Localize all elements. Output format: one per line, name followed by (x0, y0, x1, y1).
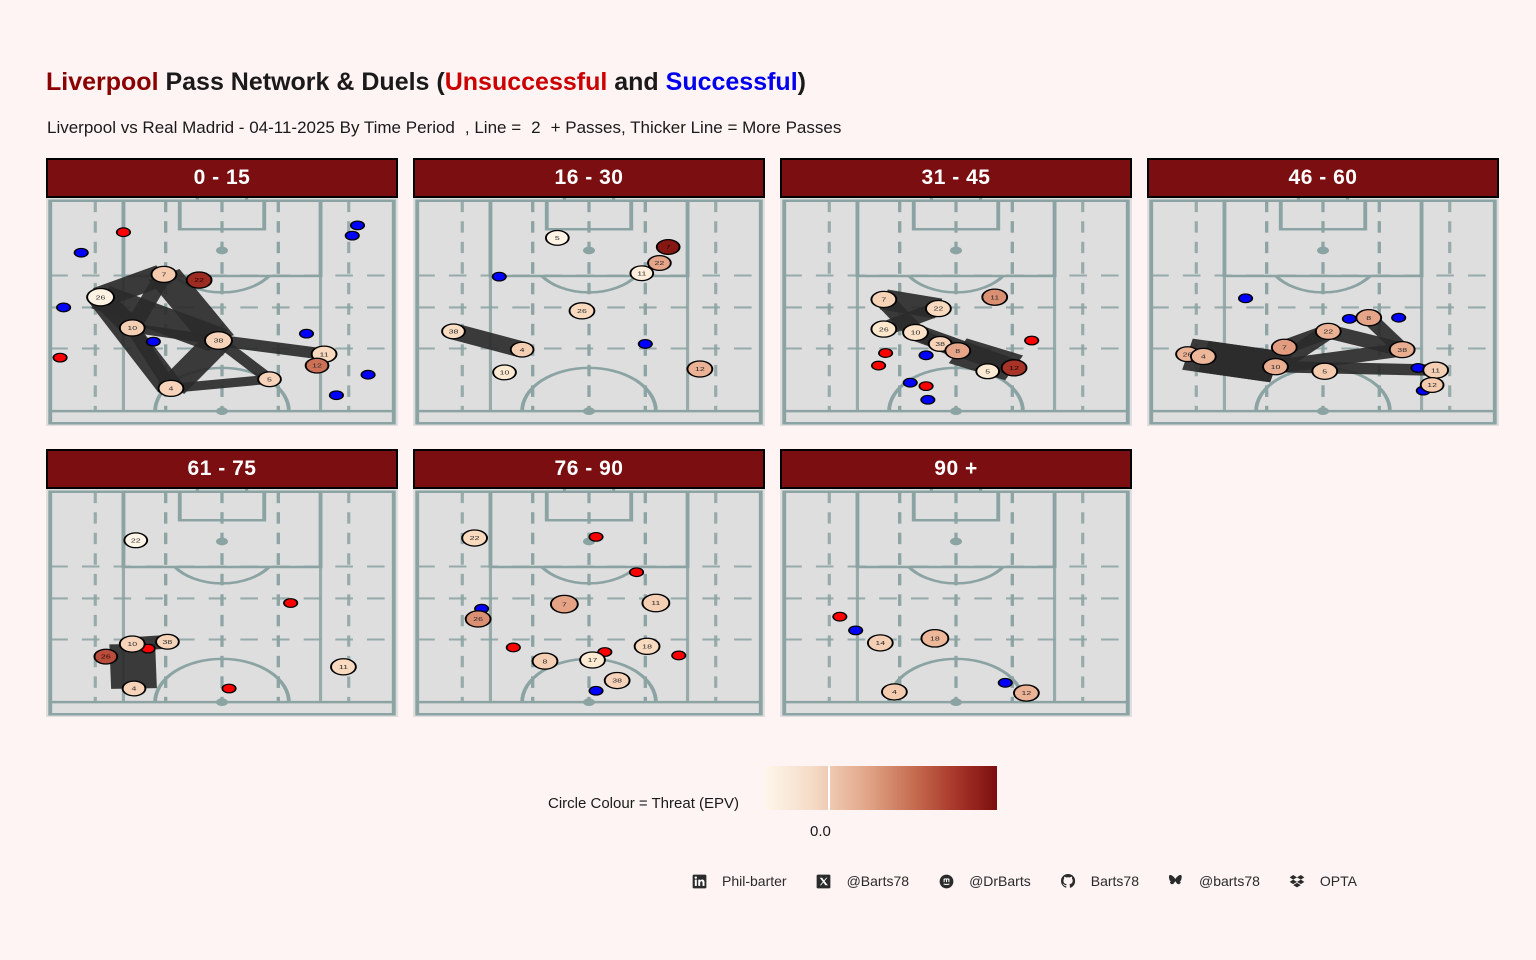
player-number: 22 (131, 537, 141, 544)
duel-successful (1343, 315, 1356, 324)
player-node[interactable]: 7 (871, 291, 896, 307)
player-node[interactable]: 5 (1312, 363, 1337, 379)
player-node[interactable]: 12 (687, 361, 712, 377)
player-number: 14 (875, 640, 885, 647)
footer-item-github[interactable]: Barts78 (1057, 870, 1165, 892)
title-successful: Successful (666, 68, 798, 96)
duel-successful (1239, 294, 1252, 303)
duel-successful (147, 337, 160, 346)
player-number: 5 (985, 368, 990, 375)
dropbox-icon (1286, 870, 1308, 892)
player-node[interactable]: 5 (976, 364, 999, 379)
player-node[interactable]: 7 (1272, 339, 1297, 355)
pitch-p31-45: 722112610388512 (780, 198, 1132, 426)
player-number: 8 (955, 348, 960, 355)
player-node[interactable]: 11 (630, 266, 653, 281)
player-number: 5 (1322, 368, 1327, 375)
subtitle-line-prefix: , Line = (465, 118, 521, 137)
pitch-p76-90: 22711261881738 (413, 489, 765, 717)
duel-successful (921, 395, 934, 404)
player-node[interactable]: 38 (1390, 342, 1415, 358)
duel-successful (75, 248, 88, 257)
player-number: 26 (473, 616, 483, 623)
player-node[interactable]: 10 (493, 365, 516, 380)
panel-title: 90 + (934, 457, 977, 481)
visualisation-root: Liverpool Pass Network & Duels (Unsucces… (0, 0, 1536, 960)
panel-p31-45: 31 - 45722112610388512 (780, 158, 1132, 426)
pitch-canvas: 267221038451112 (46, 198, 398, 426)
footer-item-x-twitter[interactable]: @Barts78 (813, 870, 935, 892)
footer-handle: @Barts78 (847, 873, 909, 889)
player-number: 10 (1271, 364, 1281, 371)
pitch-canvas: 722112610388512 (780, 198, 1132, 426)
player-node[interactable]: 11 (642, 594, 669, 611)
epv-colorbar (765, 766, 997, 810)
footer-handle: OPTA (1320, 873, 1357, 889)
linkedin-icon (688, 870, 710, 892)
page-title: Liverpool Pass Network & Duels (Unsucces… (46, 68, 806, 97)
player-number: 7 (1282, 344, 1287, 351)
player-number: 7 (161, 271, 166, 278)
footer-item-bluesky[interactable]: @barts78 (1165, 870, 1286, 892)
duel-successful (1392, 313, 1405, 322)
player-number: 18 (642, 643, 652, 650)
subtitle-line-suffix: + Passes, Thicker Line = More Passes (551, 118, 842, 137)
duel-successful (361, 370, 374, 379)
player-number: 7 (666, 244, 671, 251)
player-number: 12 (312, 362, 322, 369)
pitch-canvas: 22711261881738 (413, 489, 765, 717)
player-node[interactable]: 38 (442, 324, 465, 339)
player-node[interactable]: 8 (533, 653, 558, 669)
duel-unsuccessful (879, 349, 892, 358)
player-number: 11 (1431, 367, 1440, 374)
pitch-canvas: 572211263841012 (413, 198, 765, 426)
panel-header-p16-30: 16 - 30 (413, 158, 765, 198)
footer-item-dropbox[interactable]: OPTA (1286, 870, 1383, 892)
player-number: 12 (695, 366, 705, 373)
player-node[interactable]: 26 (87, 288, 114, 305)
pitch-p0-15: 267221038451112 (46, 198, 398, 426)
panel-header-p76-90: 76 - 90 (413, 449, 765, 489)
player-number: 10 (127, 325, 137, 332)
player-number: 26 (101, 653, 111, 660)
player-node[interactable]: 11 (1423, 362, 1448, 378)
duel-unsuccessful (222, 684, 235, 693)
player-number: 26 (879, 326, 889, 333)
player-number: 18 (930, 635, 940, 642)
player-node[interactable]: 10 (903, 324, 928, 340)
player-node[interactable]: 38 (156, 634, 179, 649)
duel-successful (351, 221, 364, 230)
player-node[interactable]: 7 (551, 595, 578, 612)
player-node[interactable]: 4 (1191, 348, 1216, 364)
player-number: 12 (1427, 382, 1437, 389)
panel-p61-75: 61 - 7522103826411 (46, 449, 398, 717)
player-node[interactable]: 22 (462, 530, 487, 546)
panel-title: 16 - 30 (555, 166, 624, 190)
mastodon-icon (935, 870, 957, 892)
pitch-p61-75: 22103826411 (46, 489, 398, 717)
player-node[interactable]: 4 (511, 342, 534, 357)
player-node[interactable]: 4 (123, 681, 146, 696)
subtitle-match: Liverpool vs Real Madrid - 04-11-2025 By… (47, 118, 455, 137)
player-number: 17 (588, 657, 598, 664)
footer-handle: @barts78 (1199, 873, 1260, 889)
duel-unsuccessful (53, 353, 66, 362)
pitch-p90plus: 1418412 (780, 489, 1132, 717)
player-number: 4 (892, 689, 897, 696)
player-number: 11 (637, 270, 646, 277)
player-number: 10 (127, 641, 137, 648)
player-node[interactable]: 22 (926, 301, 951, 317)
duel-unsuccessful (284, 599, 297, 608)
duel-unsuccessful (919, 382, 932, 391)
player-number: 5 (267, 376, 272, 383)
panel-header-p46-60: 46 - 60 (1147, 158, 1499, 198)
subtitle-min-passes: 2 (531, 118, 540, 137)
player-node[interactable]: 12 (1421, 378, 1444, 393)
player-node[interactable]: 8 (1356, 310, 1381, 326)
player-number: 22 (934, 305, 944, 312)
player-node[interactable]: 22 (124, 533, 147, 548)
panel-p76-90: 76 - 9022711261881738 (413, 449, 765, 717)
player-node[interactable]: 4 (882, 684, 907, 700)
player-number: 10 (500, 369, 510, 376)
player-number: 38 (1397, 346, 1407, 353)
footer-item-mastodon[interactable]: @DrBarts (935, 870, 1057, 892)
title-mid1: Pass Network & Duels ( (159, 68, 445, 96)
duel-successful (639, 340, 652, 349)
player-number: 10 (911, 329, 921, 336)
footer-handle: Barts78 (1091, 873, 1139, 889)
duel-unsuccessful (1025, 336, 1038, 345)
player-number: 22 (194, 277, 204, 284)
player-number: 38 (163, 639, 173, 646)
duel-successful (849, 626, 862, 635)
title-mid2: and (607, 68, 665, 96)
player-number: 12 (1009, 365, 1019, 372)
player-node[interactable]: 8 (945, 343, 970, 359)
player-node[interactable]: 38 (205, 332, 232, 349)
duel-successful (57, 303, 70, 312)
player-number: 38 (935, 341, 945, 348)
player-number: 8 (1366, 314, 1371, 321)
player-node[interactable]: 11 (331, 659, 356, 675)
pitch-canvas: 1418412 (780, 489, 1132, 717)
duel-successful (493, 272, 506, 281)
title-unsuccessful: Unsuccessful (445, 68, 608, 96)
pitch-canvas: 22103826411 (46, 489, 398, 717)
player-number: 4 (169, 385, 174, 392)
duel-successful (346, 231, 359, 240)
player-node[interactable]: 10 (1263, 359, 1288, 375)
player-number: 11 (320, 351, 329, 358)
duel-unsuccessful (833, 612, 846, 621)
player-number: 38 (612, 677, 622, 684)
player-node[interactable]: 5 (258, 372, 281, 387)
player-node[interactable]: 14 (868, 635, 893, 651)
player-node[interactable]: 5 (546, 231, 569, 246)
player-number: 22 (655, 260, 665, 267)
social-footer: Phil-barter@Barts78@DrBartsBarts78@barts… (688, 870, 1383, 892)
panel-title: 31 - 45 (922, 166, 991, 190)
player-node[interactable]: 10 (120, 320, 145, 336)
duel-successful (904, 378, 917, 387)
panel-header-p0-15: 0 - 15 (46, 158, 398, 198)
player-node[interactable]: 10 (120, 636, 145, 652)
title-end: ) (798, 68, 806, 96)
player-number: 4 (520, 346, 525, 353)
page-subtitle: Liverpool vs Real Madrid - 04-11-2025 By… (47, 118, 841, 138)
duel-unsuccessful (872, 361, 885, 370)
panel-title: 46 - 60 (1289, 166, 1358, 190)
player-number: 4 (132, 685, 137, 692)
duel-successful (330, 391, 343, 400)
panel-p90plus: 90 +1418412 (780, 449, 1132, 717)
panel-header-p90plus: 90 + (780, 449, 1132, 489)
player-number: 22 (470, 535, 480, 542)
github-icon (1057, 870, 1079, 892)
duel-unsuccessful (589, 533, 602, 542)
player-number: 26 (577, 308, 587, 315)
player-node[interactable]: 7 (657, 240, 680, 255)
duel-unsuccessful (672, 651, 685, 660)
footer-item-linkedin[interactable]: Phil-barter (688, 870, 813, 892)
panel-title: 61 - 75 (188, 457, 257, 481)
x-twitter-icon (813, 870, 835, 892)
player-number: 26 (96, 294, 106, 301)
footer-handle: @DrBarts (969, 873, 1031, 889)
player-number: 4 (1201, 353, 1206, 360)
player-node[interactable]: 12 (1002, 360, 1027, 376)
footer-handle: Phil-barter (722, 873, 787, 889)
player-number: 38 (449, 328, 459, 335)
panel-title: 76 - 90 (555, 457, 624, 481)
player-node[interactable]: 12 (306, 358, 329, 373)
player-node[interactable]: 22 (1316, 323, 1341, 339)
colorbar-tick-label: 0.0 (810, 823, 831, 840)
player-node[interactable]: 26 (570, 303, 595, 319)
pitch-p16-30: 572211263841012 (413, 198, 765, 426)
colorbar-label: Circle Colour = Threat (EPV) (548, 795, 739, 812)
pitch-canvas: 8227382641051112 (1147, 198, 1499, 426)
panel-header-p61-75: 61 - 75 (46, 449, 398, 489)
player-number: 7 (562, 601, 567, 608)
player-node[interactable]: 4 (159, 380, 184, 396)
player-node[interactable]: 26 (94, 649, 117, 664)
player-node[interactable]: 26 (871, 321, 896, 337)
player-number: 11 (651, 600, 660, 607)
player-node[interactable]: 11 (982, 289, 1007, 305)
player-number: 12 (1022, 690, 1032, 697)
player-number: 11 (339, 664, 348, 671)
player-node[interactable]: 7 (151, 266, 176, 282)
panel-p46-60: 46 - 608227382641051112 (1147, 158, 1499, 426)
duel-successful (919, 351, 932, 360)
pitch-p46-60: 8227382641051112 (1147, 198, 1499, 426)
duel-successful (999, 678, 1012, 687)
player-node[interactable]: 22 (187, 272, 212, 288)
player-number: 5 (555, 235, 560, 242)
player-number: 22 (1323, 328, 1333, 335)
player-node[interactable]: 12 (1014, 685, 1039, 701)
panel-title: 0 - 15 (194, 166, 251, 190)
player-number: 11 (990, 294, 999, 301)
title-team: Liverpool (46, 68, 159, 96)
player-node[interactable]: 22 (648, 256, 671, 271)
player-number: 38 (214, 337, 224, 344)
duel-unsuccessful (630, 568, 643, 577)
duel-successful (300, 329, 313, 338)
colorbar-tick (828, 766, 830, 810)
panel-p16-30: 16 - 30572211263841012 (413, 158, 765, 426)
player-node[interactable]: 18 (635, 638, 660, 654)
player-node[interactable]: 17 (580, 652, 605, 668)
player-node[interactable]: 26 (466, 611, 491, 627)
player-number: 8 (543, 658, 548, 665)
bluesky-icon (1165, 870, 1187, 892)
panel-header-p31-45: 31 - 45 (780, 158, 1132, 198)
panel-p0-15: 0 - 15267221038451112 (46, 158, 398, 426)
player-number: 7 (881, 296, 886, 303)
duel-unsuccessful (507, 643, 520, 652)
duel-unsuccessful (117, 228, 130, 237)
duel-successful (589, 686, 602, 695)
player-node[interactable]: 18 (921, 630, 948, 647)
player-node[interactable]: 38 (605, 672, 630, 688)
